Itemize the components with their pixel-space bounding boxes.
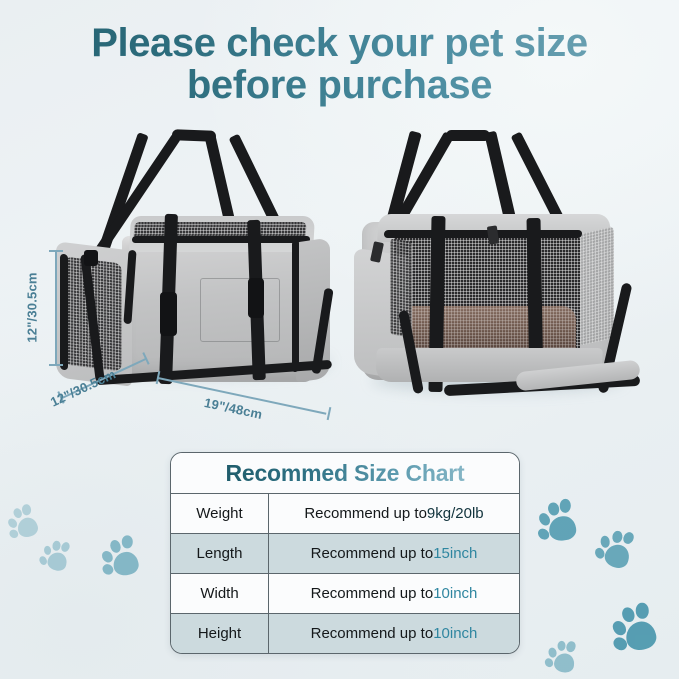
row-value-prefix: Recommend up to [311,625,434,642]
front-mesh-overlay [400,306,576,354]
side-mesh-panel [580,226,614,346]
row-value-prefix: Recommend up to [304,505,427,522]
row-value-highlight: 15inch [433,545,477,562]
row-value-length: Recommend up to 15inch [269,534,519,573]
dimension-cap-length-end [327,407,331,420]
size-chart-title: Recommed Size Chart [225,460,464,487]
dimension-cap-height-top [49,250,63,252]
strap-buckle-center [160,292,177,336]
row-value-prefix: Recommend up to [311,585,434,602]
row-label-length: Length [171,534,269,573]
row-value-weight: Recommend up to 9kg/20lb [269,494,519,533]
page-title-line-2: before purchase [0,64,679,106]
handle-loop-top [446,130,490,141]
row-label-weight: Weight [171,494,269,533]
paw-print-icon [543,638,581,676]
row-value-width: Recommend up to 10inch [269,574,519,613]
row-value-height: Recommend up to 10inch [269,614,519,653]
table-row: Width Recommend up to 10inch [171,574,519,614]
top-zipper [132,236,310,243]
page-title: Please check your pet size before purcha… [0,22,679,107]
right-carrier-illustration [348,130,658,420]
strap-clip [84,250,98,266]
paw-print-icon [605,599,666,660]
front-pocket-seam [200,278,280,342]
size-chart-table: Recommed Size Chart Weight Recommend up … [170,452,520,654]
paw-print-icon [591,524,640,573]
row-value-highlight: 10inch [433,585,477,602]
page-title-line-1: Please check your pet size [0,22,679,64]
row-value-highlight: 9kg/20lb [427,505,484,522]
paw-print-icon [2,502,45,545]
row-label-width: Width [171,574,269,613]
table-row: Weight Recommend up to 9kg/20lb [171,494,519,534]
dimension-line-height [55,250,57,366]
size-chart-header: Recommed Size Chart [171,453,519,494]
infographic-canvas: Please check your pet size before purcha… [0,0,679,679]
left-carrier-illustration [52,128,352,388]
table-row: Length Recommend up to 15inch [171,534,519,574]
table-row: Height Recommend up to 10inch [171,614,519,653]
paw-print-icon [533,497,583,547]
row-value-highlight: 10inch [433,625,477,642]
row-value-prefix: Recommend up to [311,545,434,562]
paw-print-icon [37,537,76,576]
top-zipper [384,230,583,238]
paw-print-icon [96,533,146,583]
side-panel-zipper [60,254,68,371]
row-label-height: Height [171,614,269,653]
dimension-cap-height-bottom [49,364,63,366]
right-edge-zipper [292,240,299,373]
handle-loop-top [172,129,216,142]
strap-buckle-right [248,278,264,318]
dimension-label-height: 12"/30.5cm [25,272,40,342]
